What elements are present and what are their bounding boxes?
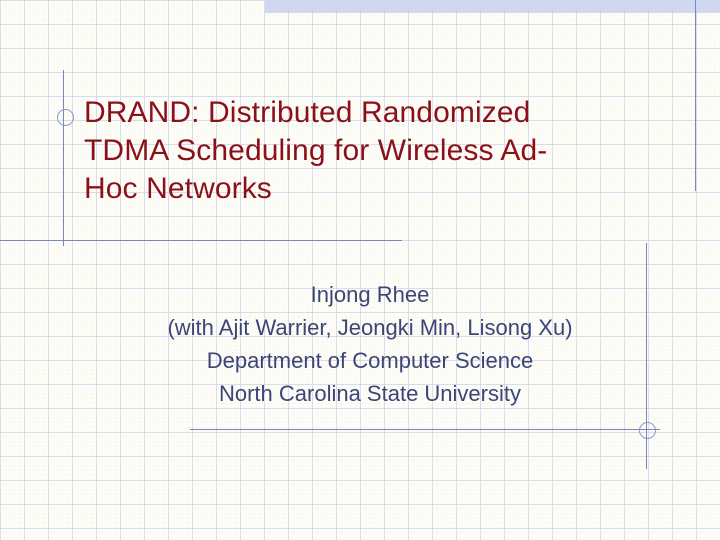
background-grid-major (0, 0, 720, 540)
author-name: Injong Rhee (100, 278, 640, 311)
co-authors: (with Ajit Warrier, Jeongki Min, Lisong … (100, 311, 640, 344)
background-grid-fine (0, 0, 720, 540)
accent-line-vertical-top-right (695, 0, 696, 191)
title-line-3: Hoc Networks (84, 170, 654, 208)
title-slide: DRAND: Distributed Randomized TDMA Sched… (0, 0, 720, 540)
page-title: DRAND: Distributed Randomized TDMA Sched… (84, 94, 654, 208)
title-line-1: DRAND: Distributed Randomized (84, 94, 654, 132)
background-paper-wash (0, 0, 720, 540)
title-line-2: TDMA Scheduling for Wireless Ad- (84, 132, 654, 170)
accent-circle-author-right (639, 422, 656, 439)
accent-circle-title-left (57, 109, 74, 126)
accent-line-horizontal-title-underline (0, 240, 402, 241)
accent-line-horizontal-author-underline (190, 429, 660, 430)
author-affiliation-block: Injong Rhee (with Ajit Warrier, Jeongki … (100, 278, 640, 410)
department: Department of Computer Science (100, 344, 640, 377)
accent-line-vertical-title-left (63, 70, 64, 246)
top-accent-band (265, 0, 720, 13)
university: North Carolina State University (100, 377, 640, 410)
